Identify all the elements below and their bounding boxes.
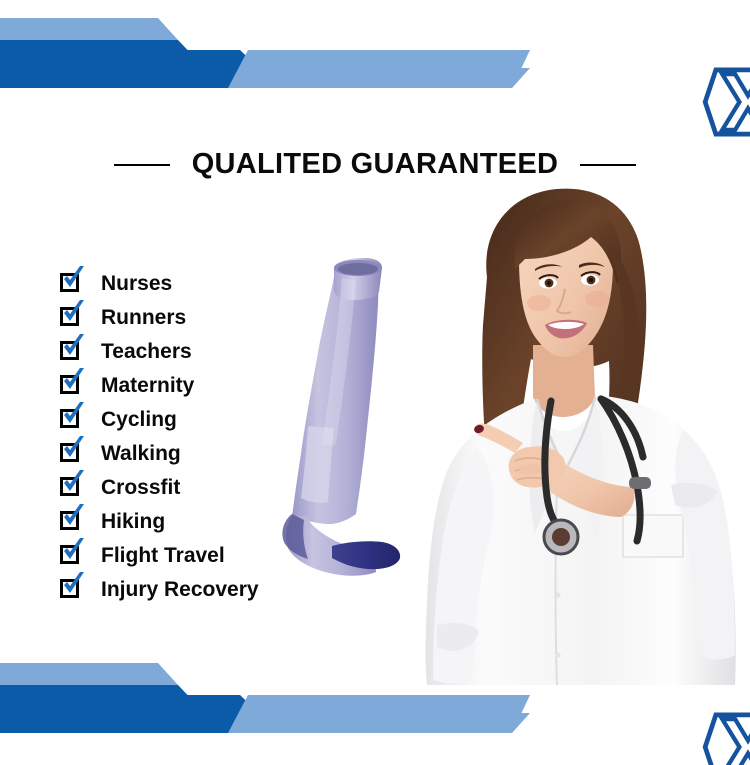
model-photo-nurse <box>415 185 750 685</box>
title-rule-right <box>580 164 636 166</box>
pupil-right <box>589 278 593 282</box>
yekang-x-logo-icon <box>373 57 750 147</box>
banner-light-bar-upper <box>0 663 178 685</box>
list-item-label: Walking <box>101 443 181 464</box>
checkbox-checked-icon <box>60 339 87 364</box>
coat-button-2 <box>555 592 560 597</box>
top-banner: YEKANG <box>0 10 750 100</box>
product-image-compression-sock <box>272 258 402 593</box>
list-item-label: Runners <box>101 307 186 328</box>
section-title-row: QUALITED GUARANTEED <box>0 148 750 181</box>
coat-pocket <box>623 515 683 557</box>
checkbox-checked-icon <box>60 271 87 296</box>
blush-left <box>527 295 551 311</box>
list-item-label: Maternity <box>101 375 194 396</box>
bottom-banner: YEKANG <box>0 655 750 745</box>
stethoscope-clip <box>629 477 651 489</box>
pupil-left <box>547 281 551 285</box>
list-item-label: Cycling <box>101 409 177 430</box>
checkbox-checked-icon <box>60 407 87 432</box>
list-item-label: Injury Recovery <box>101 579 259 600</box>
checkbox-checked-icon <box>60 543 87 568</box>
checkbox-checked-icon <box>60 441 87 466</box>
product-marketing-banner: YEKANG QUALITED GUARANTEED Nurses <box>0 0 750 765</box>
title-rule-left <box>114 164 170 166</box>
checkbox-checked-icon <box>60 577 87 602</box>
list-item-label: Nurses <box>101 273 172 294</box>
checkbox-checked-icon <box>60 373 87 398</box>
checkbox-checked-icon <box>60 305 87 330</box>
yekang-x-logo-icon <box>373 702 750 765</box>
blush-right <box>585 291 609 307</box>
brand-logo-top: YEKANG <box>373 57 750 147</box>
page-title: QUALITED GUARANTEED <box>192 148 559 181</box>
checkbox-checked-icon <box>60 475 87 500</box>
stethoscope-chestpiece-inner <box>552 528 570 546</box>
list-item-label: Teachers <box>101 341 192 362</box>
list-item-label: Flight Travel <box>101 545 225 566</box>
brand-logo-bottom: YEKANG <box>373 702 750 765</box>
checkbox-checked-icon <box>60 509 87 534</box>
sock-cuff-opening-inner <box>338 263 378 275</box>
list-item-label: Hiking <box>101 511 165 532</box>
list-item-label: Crossfit <box>101 477 180 498</box>
banner-light-bar-upper <box>0 18 178 40</box>
